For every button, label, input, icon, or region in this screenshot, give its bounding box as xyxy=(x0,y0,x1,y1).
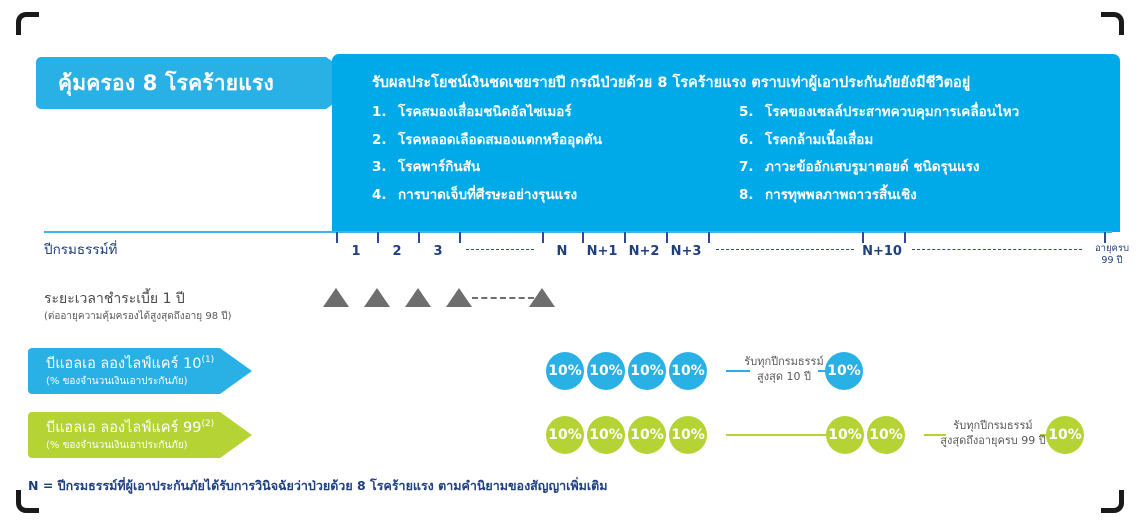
disease-number: 6. xyxy=(739,134,765,148)
disease-number: 5. xyxy=(739,106,765,120)
disease-item: 3.โรคพาร์กินสัน xyxy=(372,161,735,175)
disease-number: 1. xyxy=(372,106,398,120)
benefit-panel-title: รับผลประโยชน์เงินชดเชยรายปี กรณีป่วยด้วย… xyxy=(372,71,1102,94)
disease-label: โรคพาร์กินสัน xyxy=(398,161,480,175)
timeline-tick xyxy=(582,232,584,243)
benefit-note-line1: รับทุกปีกรมธรรม์ xyxy=(940,418,1045,433)
timeline-tick-label: N+2 xyxy=(629,244,660,259)
timeline-tick xyxy=(862,232,864,243)
timeline-tick xyxy=(542,232,544,243)
product-banner-arrow-icon xyxy=(220,412,252,458)
timeline-tick-label: N+10 xyxy=(862,244,902,259)
benefit-bubble: 10% xyxy=(669,352,707,390)
disease-item: 4.การบาดเจ็บที่ศีรษะอย่างรุนแรง xyxy=(372,189,735,203)
product-subtitle: (% ของจำนวนเงินเอาประกันภัย) xyxy=(46,438,220,453)
disease-column-left: 1.โรคสมองเสื่อมชนิดอัลไซเมอร์2.โรคหลอดเล… xyxy=(372,106,735,216)
coverage-banner: คุ้มครอง 8 โรคร้ายแรง xyxy=(36,57,326,109)
crop-mark-top-right-icon xyxy=(1101,12,1124,35)
product-title: บีแอลเอ ลองไลฟ์แคร์ 10(1) xyxy=(46,355,220,373)
benefit-panel: รับผลประโยชน์เงินชดเชยรายปี กรณีป่วยด้วย… xyxy=(332,54,1120,232)
benefit-note-line2: สูงสุด 10 ปี xyxy=(744,369,823,384)
timeline-tick-label: N+1 xyxy=(587,244,618,259)
benefit-bubble: 10% xyxy=(628,352,666,390)
disease-label: การทุพพลภาพถาวรสิ้นเชิง xyxy=(765,189,917,203)
benefit-bubble: 10% xyxy=(1046,416,1084,454)
benefit-bubble: 10% xyxy=(628,416,666,454)
disease-number: 3. xyxy=(372,161,398,175)
benefit-bubble: 10% xyxy=(587,416,625,454)
timeline-tick-label: 2 xyxy=(392,244,401,259)
timeline-tick xyxy=(904,232,906,243)
disease-label: โรคหลอดเลือดสมองแตกหรืออุดตัน xyxy=(398,134,602,148)
benefit-bubble: 10% xyxy=(546,352,584,390)
product-banner-longlifecare-10: บีแอลเอ ลองไลฟ์แคร์ 10(1)(% ของจำนวนเงิน… xyxy=(28,348,220,394)
benefit-bubble: 10% xyxy=(669,416,707,454)
timeline-tick xyxy=(418,232,420,243)
benefit-note-line2: สูงสุดถึงอายุครบ 99 ปี xyxy=(940,433,1045,448)
timeline-tick xyxy=(459,232,461,243)
disease-item: 7.ภาวะข้ออักเสบรูมาตอยด์ ชนิดรุนแรง xyxy=(739,161,1102,175)
benefit-bubble: 10% xyxy=(587,352,625,390)
benefit-note: รับทุกปีกรมธรรม์สูงสุดถึงอายุครบ 99 ปี xyxy=(940,418,1045,449)
crop-mark-bottom-right-icon xyxy=(1101,490,1124,513)
timeline-tick-label: N xyxy=(557,244,568,259)
benefit-note: รับทุกปีกรมธรรม์สูงสุด 10 ปี xyxy=(744,354,823,385)
infographic-canvas: คุ้มครอง 8 โรคร้ายแรง รับผลประโยชน์เงินช… xyxy=(0,0,1140,525)
premium-marker-triangle-icon xyxy=(364,288,390,307)
disease-item: 2.โรคหลอดเลือดสมองแตกหรืออุดตัน xyxy=(372,134,735,148)
disease-label: โรคกล้ามเนื้อเสื่อม xyxy=(765,134,873,148)
disease-label: โรคของเซลล์ประสาทควบคุมการเคลื่อนไหว xyxy=(765,106,1019,120)
timeline-end-label: อายุครบ99 ปี xyxy=(1095,243,1129,267)
benefit-note-line1: รับทุกปีกรมธรรม์ xyxy=(744,354,823,369)
timeline-tick-label: N+3 xyxy=(671,244,702,259)
disease-item: 8.การทุพพลภาพถาวรสิ้นเชิง xyxy=(739,189,1102,203)
timeline-dash xyxy=(912,249,1082,250)
disease-item: 5.โรคของเซลล์ประสาทควบคุมการเคลื่อนไหว xyxy=(739,106,1102,120)
timeline-dash xyxy=(716,249,854,250)
timeline-tick xyxy=(666,232,668,243)
timeline-tick-label: 1 xyxy=(351,244,360,259)
premium-marker-dash xyxy=(472,297,534,299)
product-subtitle: (% ของจำนวนเงินเอาประกันภัย) xyxy=(46,374,220,389)
timeline-tick xyxy=(336,232,338,243)
disease-label: ภาวะข้ออักเสบรูมาตอยด์ ชนิดรุนแรง xyxy=(765,161,980,175)
product-banner-longlifecare-99: บีแอลเอ ลองไลฟ์แคร์ 99(2)(% ของจำนวนเงิน… xyxy=(28,412,220,458)
product-title: บีแอลเอ ลองไลฟ์แคร์ 99(2) xyxy=(46,419,220,437)
timeline-ticks: 123NN+1N+2N+3N+10อายุครบ99 ปี xyxy=(0,232,1140,278)
product-title-superscript: (1) xyxy=(201,355,214,365)
timeline-dash xyxy=(466,249,534,250)
coverage-banner-label: คุ้มครอง 8 โรคร้ายแรง xyxy=(58,67,274,100)
disease-number: 7. xyxy=(739,161,765,175)
disease-list: 1.โรคสมองเสื่อมชนิดอัลไซเมอร์2.โรคหลอดเล… xyxy=(372,106,1102,216)
timeline-tick xyxy=(1104,232,1106,243)
premium-marker-triangle-icon xyxy=(405,288,431,307)
disease-number: 8. xyxy=(739,189,765,203)
benefit-bubble: 10% xyxy=(826,416,864,454)
timeline-tick-label: 3 xyxy=(433,244,442,259)
premium-period-sublabel: (ต่ออายุความคุ้มครองได้สูงสุดถึงอายุ 98 … xyxy=(44,309,231,324)
timeline-tick xyxy=(708,232,710,243)
crop-mark-top-left-icon xyxy=(16,12,39,35)
footnote: N = ปีกรมธรรม์ที่ผู้เอาประกันภัยได้รับกา… xyxy=(28,476,608,496)
premium-period-label: ระยะเวลาชำระเบี้ย 1 ปี xyxy=(44,288,185,310)
disease-label: โรคสมองเสื่อมชนิดอัลไซเมอร์ xyxy=(398,106,572,120)
disease-column-right: 5.โรคของเซลล์ประสาทควบคุมการเคลื่อนไหว6.… xyxy=(735,106,1102,216)
disease-item: 1.โรคสมองเสื่อมชนิดอัลไซเมอร์ xyxy=(372,106,735,120)
benefit-bubble: 10% xyxy=(546,416,584,454)
benefit-bubble: 10% xyxy=(825,352,863,390)
timeline-end-label-line1: อายุครบ xyxy=(1095,243,1129,255)
disease-number: 2. xyxy=(372,134,398,148)
disease-item: 6.โรคกล้ามเนื้อเสื่อม xyxy=(739,134,1102,148)
premium-marker-triangle-icon xyxy=(323,288,349,307)
benefit-bubble: 10% xyxy=(867,416,905,454)
timeline-end-label-line2: 99 ปี xyxy=(1095,255,1129,267)
disease-label: การบาดเจ็บที่ศีรษะอย่างรุนแรง xyxy=(398,189,577,203)
premium-marker-triangle-icon xyxy=(446,288,472,307)
timeline-tick xyxy=(377,232,379,243)
timeline-tick xyxy=(624,232,626,243)
disease-number: 4. xyxy=(372,189,398,203)
product-banner-arrow-icon xyxy=(220,348,252,394)
product-title-superscript: (2) xyxy=(201,419,214,429)
